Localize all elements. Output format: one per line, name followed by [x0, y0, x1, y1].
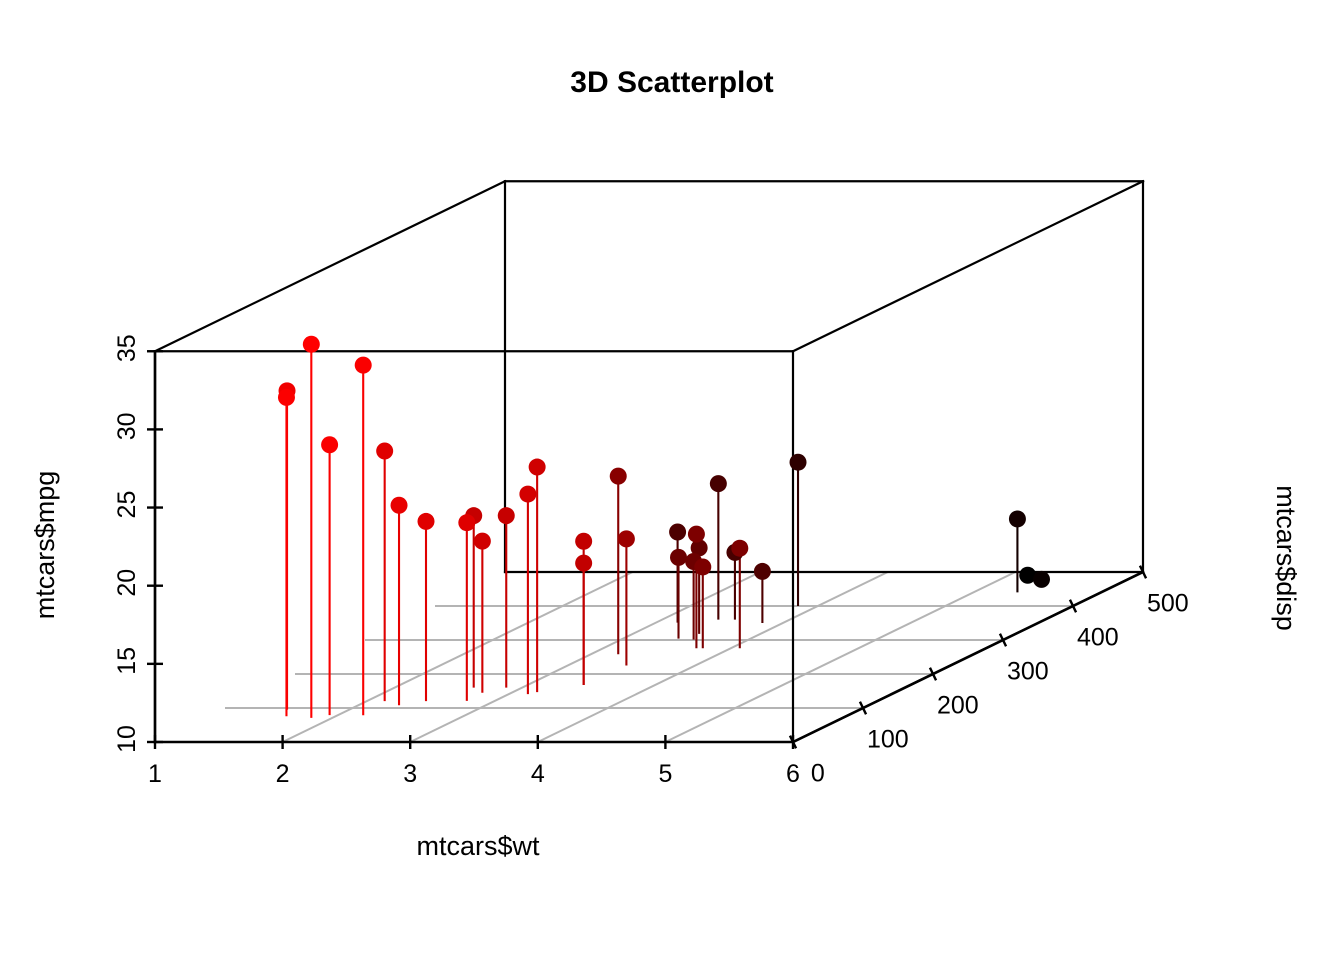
data-point	[529, 459, 546, 476]
z-tick-label: 0	[811, 760, 825, 788]
y-tick-label: 20	[113, 569, 141, 597]
data-point	[321, 436, 338, 453]
scatterplot3d-figure: 3D Scatterplot 1234561015202530350100200…	[0, 0, 1344, 960]
data-point	[519, 486, 536, 503]
data-point	[688, 526, 705, 543]
y-axis-title: mtcars$mpg	[30, 471, 60, 620]
data-point	[1009, 510, 1026, 527]
data-point	[391, 497, 408, 514]
data-point	[575, 533, 592, 550]
y-tick-label: 30	[113, 412, 141, 440]
data-point	[418, 513, 435, 530]
data-point	[610, 468, 627, 485]
y-tick-label: 10	[113, 725, 141, 753]
data-point	[278, 389, 295, 406]
data-point	[474, 533, 491, 550]
z-tick-label: 200	[937, 692, 979, 720]
z-tick-label: 300	[1007, 658, 1049, 686]
x-tick-label: 5	[658, 760, 672, 788]
data-point	[618, 530, 635, 547]
z-axis-title: mtcars$disp	[1271, 485, 1301, 631]
y-tick-label: 35	[113, 334, 141, 362]
data-point	[710, 475, 727, 492]
data-point	[1033, 571, 1050, 588]
z-tick-label: 500	[1147, 590, 1189, 618]
plot-canvas: 3D Scatterplot 1234561015202530350100200…	[0, 0, 1344, 960]
data-point	[575, 555, 592, 572]
data-point	[458, 514, 475, 531]
data-point	[670, 549, 687, 566]
data-point	[303, 336, 320, 353]
data-point	[790, 454, 807, 471]
x-tick-label: 4	[531, 760, 545, 788]
z-tick-label: 100	[867, 726, 909, 754]
y-tick-label: 15	[113, 647, 141, 675]
y-tick-label: 25	[113, 491, 141, 519]
data-point	[754, 563, 771, 580]
data-point	[731, 540, 748, 557]
data-point	[669, 524, 686, 541]
z-tick-label: 400	[1077, 624, 1119, 652]
data-point	[376, 443, 393, 460]
page-title: 3D Scatterplot	[570, 66, 773, 99]
data-point	[498, 507, 515, 524]
x-tick-label: 1	[148, 760, 162, 788]
data-point	[355, 357, 372, 374]
x-tick-label: 3	[403, 760, 417, 788]
x-tick-label: 2	[276, 760, 290, 788]
x-axis-title: mtcars$wt	[416, 831, 540, 861]
x-tick-label: 6	[786, 760, 800, 788]
data-point	[694, 558, 711, 575]
